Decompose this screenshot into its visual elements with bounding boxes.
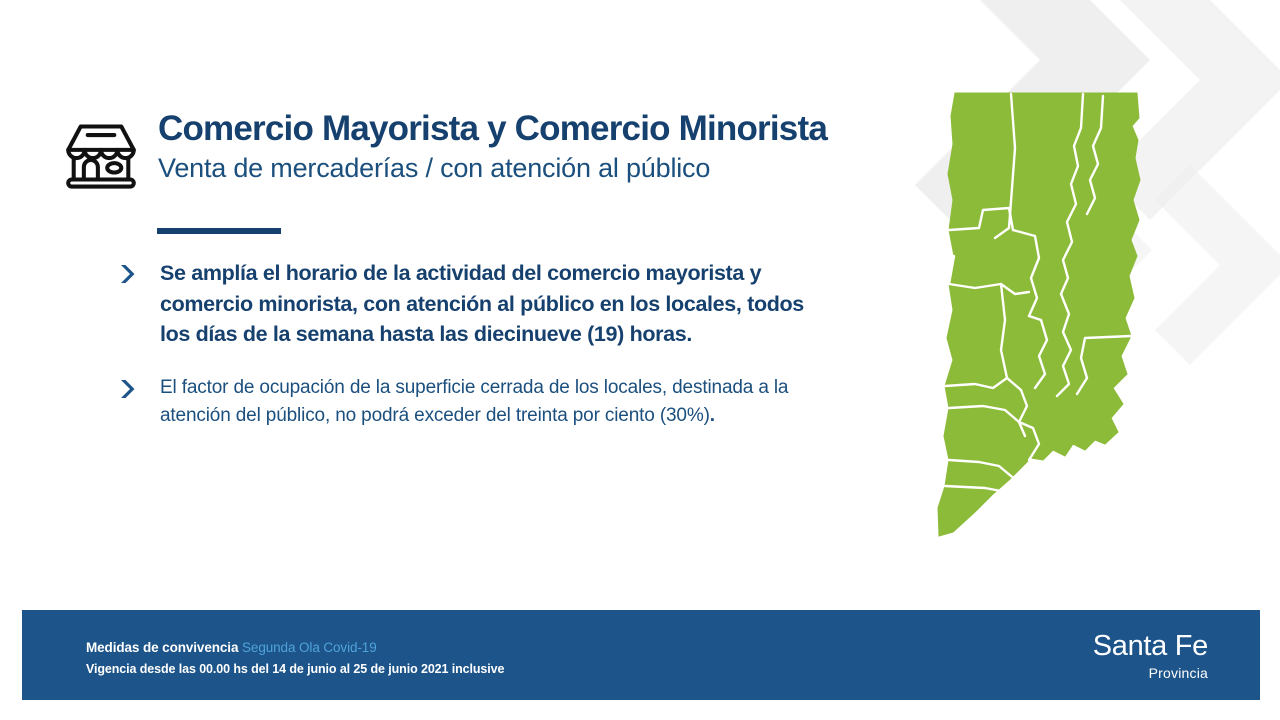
bullet-list: Se amplía el horario de la actividad del… — [118, 258, 834, 453]
footer-line-1: Medidas de convivencia Segunda Ola Covid… — [86, 638, 504, 658]
list-item-text: El factor de ocupación de la superficie … — [160, 377, 788, 427]
list-item-text-tail: . — [710, 405, 715, 426]
footer-text-block: Medidas de convivencia Segunda Ola Covid… — [86, 638, 504, 678]
chevron-right-icon — [118, 263, 140, 285]
list-item: Se amplía el horario de la actividad del… — [118, 258, 834, 350]
page-title: Comercio Mayorista y Comercio Minorista — [158, 110, 827, 147]
footer-bar: Medidas de convivencia Segunda Ola Covid… — [22, 610, 1260, 700]
title-divider-rule — [157, 228, 281, 234]
storefront-icon — [62, 114, 140, 192]
footer-validity-text: Vigencia desde las 00.00 hs del 14 de ju… — [86, 660, 504, 678]
santa-fe-logo: Santa Fe Provincia — [1093, 632, 1208, 680]
santa-fe-province-map — [935, 88, 1185, 540]
slide-content: Comercio Mayorista y Comercio Minorista … — [0, 0, 1280, 720]
list-item-text-main: El factor de ocupación de la superficie … — [160, 377, 788, 427]
header-text-block: Comercio Mayorista y Comercio Minorista … — [158, 108, 827, 184]
brand-subtitle: Provincia — [1093, 666, 1208, 680]
brand-name: Santa Fe — [1093, 632, 1208, 661]
header-block: Comercio Mayorista y Comercio Minorista … — [62, 108, 962, 192]
list-item-text: Se amplía el horario de la actividad del… — [160, 261, 804, 346]
page-subtitle: Venta de mercaderías / con atención al p… — [158, 152, 827, 184]
list-item: El factor de ocupación de la superficie … — [118, 374, 834, 431]
footer-title: Medidas de convivencia — [86, 640, 238, 655]
chevron-right-icon — [118, 378, 140, 400]
footer-subtitle: Segunda Ola Covid-19 — [242, 640, 377, 655]
